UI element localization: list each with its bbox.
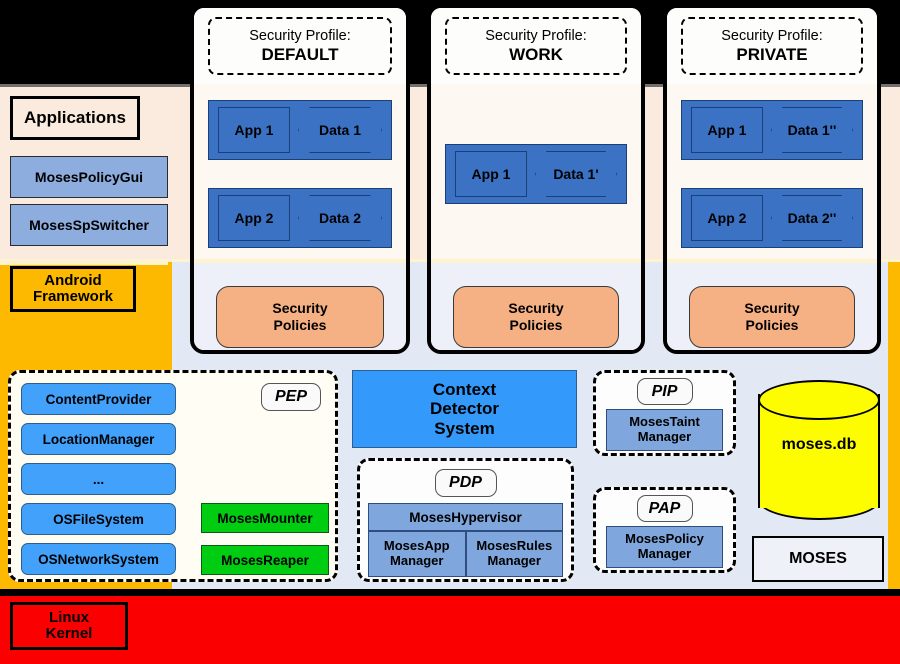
profile-title-default: Security Profile: DEFAULT (208, 17, 392, 75)
security-policies-box[interactable]: Security Policies (216, 286, 384, 348)
pap-tag: PAP (637, 495, 693, 522)
pep-hook-contentprovider[interactable]: ContentProvider (21, 383, 176, 415)
pep-component-mosesmounter[interactable]: MosesMounter (201, 503, 329, 533)
app-chip-mosespolicygui[interactable]: MosesPolicyGui (10, 156, 168, 198)
context-detector-line3: System (434, 419, 494, 438)
pep-hook-osfilesystem[interactable]: OSFileSystem (21, 503, 176, 535)
mosesrules-manager-box[interactable]: MosesRules Manager (466, 531, 564, 577)
mosesrules-manager-line2: Manager (488, 554, 541, 569)
moseshypervisor-box[interactable]: MosesHypervisor (368, 503, 563, 531)
security-policies-line1: Security (508, 300, 563, 317)
data-hexagon-label: Data 2 (319, 210, 361, 226)
app-data-row[interactable]: App 1 Data 1'' (681, 100, 863, 160)
security-profile-card-private[interactable]: Security Profile: PRIVATE App 1 Data 1''… (663, 4, 881, 354)
app-data-row[interactable]: App 2 Data 2 (208, 188, 392, 248)
profile-title-prefix: Security Profile: (721, 28, 823, 45)
profile-title-name: PRIVATE (736, 45, 807, 65)
data-hexagon-label: Data 2'' (788, 210, 837, 226)
mosestaint-manager-box[interactable]: MosesTaint Manager (606, 409, 723, 451)
mosestaint-manager-line1: MosesTaint (629, 415, 700, 430)
data-hexagon[interactable]: Data 1' (535, 151, 617, 197)
mosestaint-manager-line2: Manager (638, 430, 691, 445)
app-box[interactable]: App 2 (218, 195, 290, 241)
security-policies-box[interactable]: Security Policies (689, 286, 855, 348)
profile-title-name: WORK (509, 45, 563, 65)
context-detector-line2: Detector (430, 399, 499, 418)
pdp-group: PDP MosesHypervisor MosesApp Manager Mos… (357, 458, 574, 582)
mosesrules-manager-line1: MosesRules (476, 539, 552, 554)
layer-label-linux-kernel: Linux Kernel (10, 602, 128, 650)
security-policies-line2: Policies (510, 317, 563, 334)
pap-group: PAP MosesPolicy Manager (593, 487, 736, 573)
pdp-manager-row: MosesApp Manager MosesRules Manager (368, 531, 563, 577)
data-hexagon-label: Data 1' (553, 166, 598, 182)
mosespolicy-manager-line1: MosesPolicy (625, 532, 704, 547)
kernel-label-line2: Kernel (46, 626, 93, 642)
context-detector-system-box[interactable]: Context Detector System (352, 370, 577, 448)
security-policies-line1: Security (272, 300, 327, 317)
security-profile-card-work[interactable]: Security Profile: WORK App 1 Data 1' Sec… (427, 4, 645, 354)
data-hexagon-label: Data 1'' (788, 122, 837, 138)
framework-label-line1: Android (33, 273, 113, 289)
layer-label-android-framework: Android Framework (10, 266, 136, 312)
pep-hook-locationmanager[interactable]: LocationManager (21, 423, 176, 455)
profile-title-prefix: Security Profile: (485, 28, 587, 45)
app-data-row[interactable]: App 2 Data 2'' (681, 188, 863, 248)
moses-band-right-edge (888, 262, 900, 589)
profile-title-name: DEFAULT (261, 45, 338, 65)
pdp-tag: PDP (435, 469, 497, 497)
pep-group: PEP ContentProvider LocationManager ... … (8, 370, 338, 582)
pep-hook-ellipsis[interactable]: ... (21, 463, 176, 495)
data-hexagon-label: Data 1 (319, 122, 361, 138)
security-policies-line2: Policies (746, 317, 799, 334)
pep-tag: PEP (261, 383, 321, 411)
database-label: moses.db (758, 436, 880, 454)
data-hexagon[interactable]: Data 1 (298, 107, 382, 153)
data-hexagon[interactable]: Data 2 (298, 195, 382, 241)
security-policies-line1: Security (744, 300, 799, 317)
kernel-label-line1: Linux (46, 610, 93, 626)
profile-title-prefix: Security Profile: (249, 28, 351, 45)
app-data-row[interactable]: App 1 Data 1' (445, 144, 627, 204)
app-data-row[interactable]: App 1 Data 1 (208, 100, 392, 160)
architecture-diagram: Applications Android Framework Linux Ker… (0, 0, 900, 664)
app-chip-mosesspswitcher[interactable]: MosesSpSwitcher (10, 204, 168, 246)
app-box[interactable]: App 1 (455, 151, 527, 197)
layer-label-applications: Applications (10, 96, 140, 140)
profile-title-work: Security Profile: WORK (445, 17, 627, 75)
data-hexagon[interactable]: Data 2'' (771, 195, 853, 241)
mosesapp-manager-box[interactable]: MosesApp Manager (368, 531, 466, 577)
mosespolicy-manager-line2: Manager (638, 547, 691, 562)
profile-title-private: Security Profile: PRIVATE (681, 17, 863, 75)
pep-hook-osnetworksystem[interactable]: OSNetworkSystem (21, 543, 176, 575)
mosesapp-manager-line2: Manager (390, 554, 443, 569)
mosespolicy-manager-box[interactable]: MosesPolicy Manager (606, 526, 723, 568)
app-box[interactable]: App 1 (691, 107, 763, 153)
app-box[interactable]: App 2 (691, 195, 763, 241)
security-policies-box[interactable]: Security Policies (453, 286, 619, 348)
pip-tag: PIP (637, 378, 693, 405)
context-detector-line1: Context (433, 380, 496, 399)
pip-group: PIP MosesTaint Manager (593, 370, 736, 456)
security-profile-card-default[interactable]: Security Profile: DEFAULT App 1 Data 1 A… (190, 4, 410, 354)
pep-component-mosesreaper[interactable]: MosesReaper (201, 545, 329, 575)
app-box[interactable]: App 1 (218, 107, 290, 153)
linux-kernel-layer-band (0, 592, 900, 664)
framework-label-line2: Framework (33, 289, 113, 305)
mosesapp-manager-line1: MosesApp (384, 539, 450, 554)
database-cylinder-top (758, 380, 880, 420)
security-policies-line2: Policies (274, 317, 327, 334)
moses-database-cylinder[interactable]: moses.db (758, 380, 880, 522)
moses-legend-box: MOSES (752, 536, 884, 582)
data-hexagon[interactable]: Data 1'' (771, 107, 853, 153)
